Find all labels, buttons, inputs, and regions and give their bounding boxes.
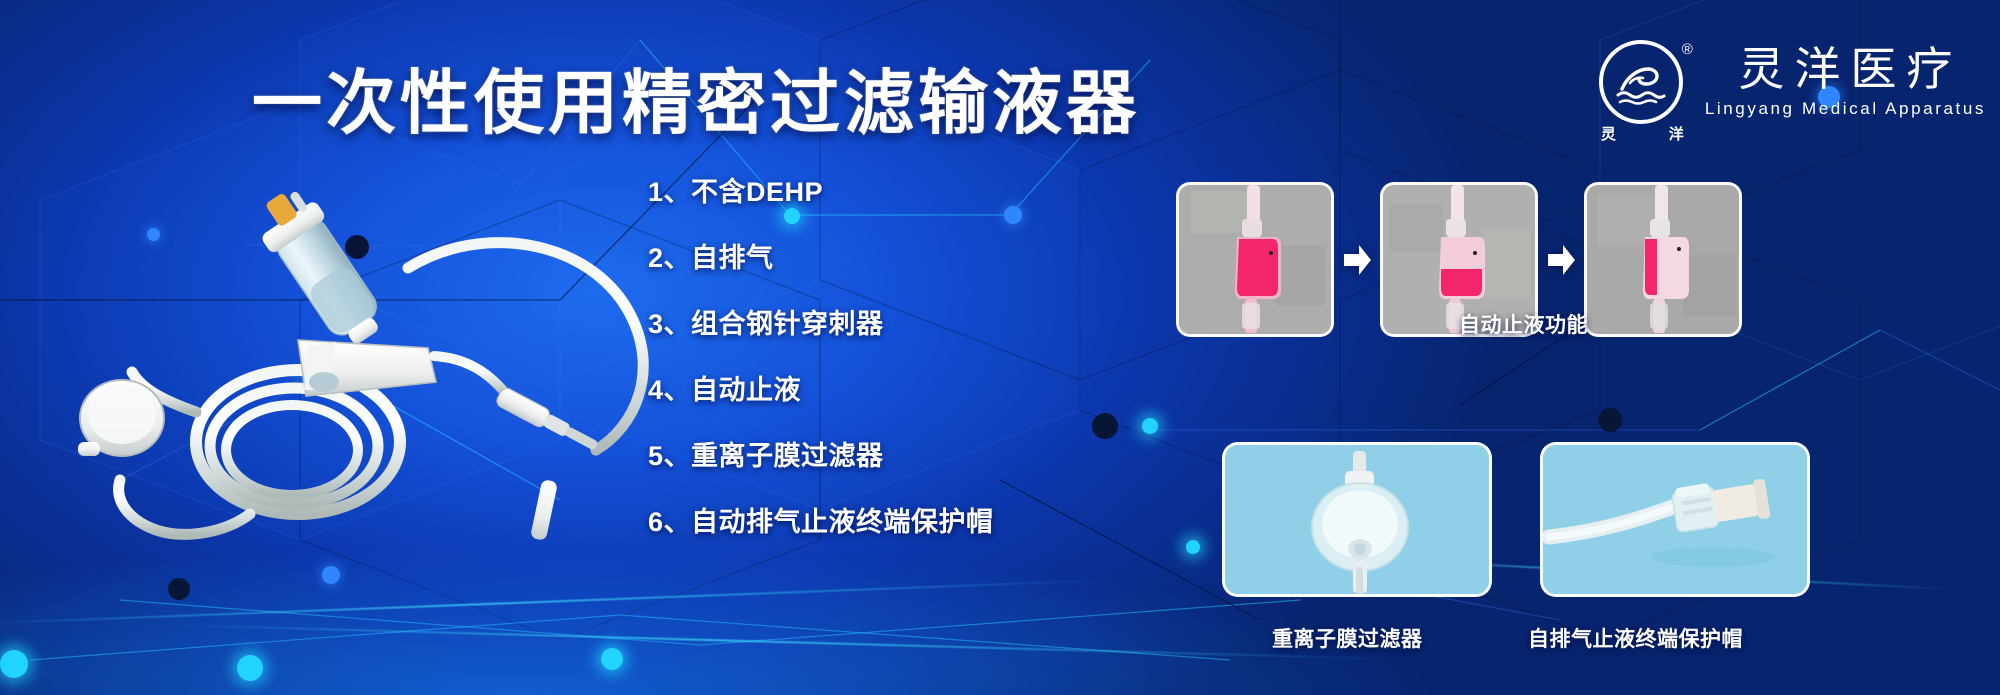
- feature-item-6: 6、自动排气止液终端保护帽: [648, 500, 994, 539]
- feature-item-3: 3、组合钢针穿刺器: [648, 302, 994, 341]
- network-node: [237, 655, 263, 681]
- network-node: [1186, 540, 1200, 554]
- brand-name-block: 灵洋医疗 Lingyang Medical Apparatus: [1705, 45, 1986, 119]
- network-node: [601, 648, 623, 670]
- feature-list: 1、不含DEHP 2、自排气 3、组合钢针穿刺器 4、自动止液 5、重离子膜过滤…: [648, 170, 994, 539]
- brand-logo: ® 灵 洋 灵洋医疗 Lingyang Medical Apparatus: [1599, 40, 1986, 124]
- network-node: [168, 578, 190, 600]
- feature-item-1: 1、不含DEHP: [648, 170, 994, 209]
- roller-clamp-part: [298, 340, 506, 396]
- logo-mark-char-right: 洋: [1669, 123, 1685, 144]
- infusion-set-product-photo: [36, 150, 676, 550]
- needle-connector-part: [495, 386, 602, 455]
- network-node: [1142, 418, 1158, 434]
- feature-item-5: 5、重离子膜过滤器: [648, 434, 994, 473]
- network-node: [1004, 206, 1022, 224]
- wave-crane-glyph: [1608, 49, 1674, 115]
- product-banner: 一次性使用精密过滤输液器 ® 灵 洋 灵洋医疗 Lingyang Medical…: [0, 0, 2000, 695]
- network-node: [1092, 413, 1118, 439]
- logo-emblem-icon: ® 灵 洋: [1599, 40, 1683, 124]
- sequence-photo-1: [1176, 182, 1334, 337]
- protective-cap-part: [530, 479, 558, 541]
- network-node: [322, 566, 340, 584]
- page-title: 一次性使用精密过滤输液器: [252, 47, 1140, 148]
- panel-photo-self-venting-cap: [1540, 442, 1810, 597]
- product-panel-list: [1222, 442, 1810, 597]
- panel-caption-heavy-ion-membrane-filter: 重离子膜过滤器: [1272, 623, 1423, 653]
- filter-disc-part: [78, 380, 164, 456]
- feature-item-4: 4、自动止液: [648, 368, 994, 407]
- sequence-arrow-icon-2: [1538, 243, 1584, 277]
- brand-name-cn: 灵洋医疗: [1728, 45, 1962, 95]
- network-node: [0, 650, 28, 678]
- panel-photo-heavy-ion-membrane-filter: [1222, 442, 1492, 597]
- sequence-photo-3: [1584, 182, 1742, 337]
- sequence-caption: 自动止液功能: [1459, 309, 1588, 339]
- drip-chamber-part: [246, 180, 395, 356]
- panel-caption-self-venting-cap: 自排气止液终端保护帽: [1528, 623, 1743, 653]
- feature-item-2: 2、自排气: [648, 236, 994, 275]
- sequence-arrow-icon-1: [1334, 243, 1380, 277]
- network-node: [1598, 408, 1622, 432]
- registered-trademark-icon: ®: [1682, 42, 1693, 57]
- logo-mark-char-left: 灵: [1601, 123, 1617, 144]
- brand-name-en: Lingyang Medical Apparatus: [1705, 99, 1986, 119]
